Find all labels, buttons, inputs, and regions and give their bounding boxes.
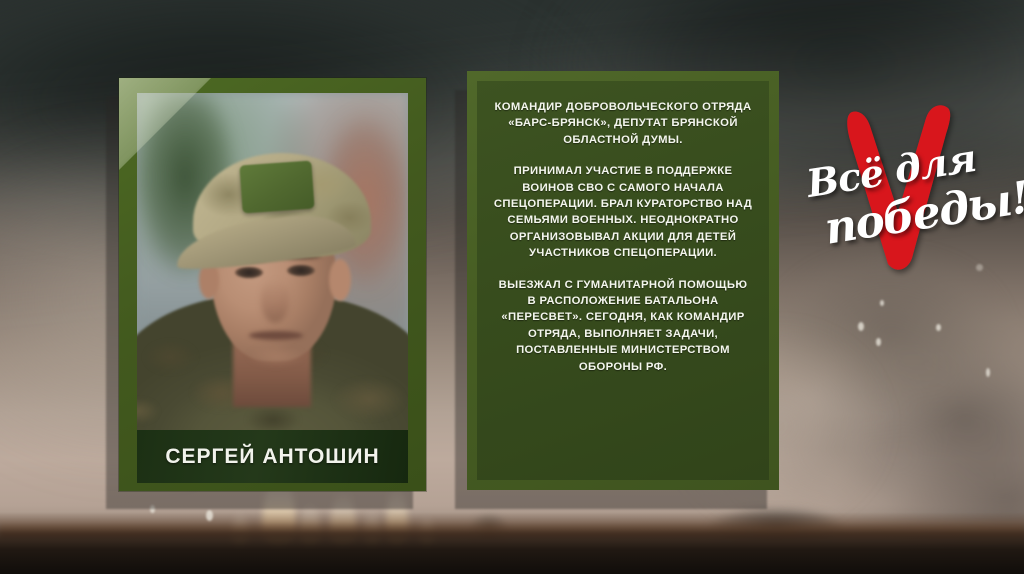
portrait-cap-patch [239,161,314,214]
portrait-photo [137,93,408,430]
ember-spark [206,510,213,521]
ground-silhouette [0,512,1024,574]
ember-spark [880,300,884,306]
portrait-ear-right [329,259,351,301]
portrait-chin [237,345,315,373]
nameplate: СЕРГЕЙ АНТОШИН [137,430,408,483]
biography-card: КОМАНДИР ДОБРОВОЛЬЧЕСКОГО ОТРЯДА «БАРС-Б… [467,71,779,490]
ember-spark [936,324,941,331]
bio-paragraph-1: КОМАНДИР ДОБРОВОЛЬЧЕСКОГО ОТРЯДА «БАРС-Б… [493,99,753,148]
bio-paragraph-2: ПРИНИМАЛ УЧАСТИЕ В ПОДДЕРЖКЕ ВОИНОВ СВО … [493,163,753,261]
portrait-mouth [249,331,303,340]
campaign-logo: Всё для победы! [800,96,990,286]
biography-card-inner: КОМАНДИР ДОБРОВОЛЬЧЕСКОГО ОТРЯДА «БАРС-Б… [477,81,769,480]
portrait-nose [261,279,289,323]
profile-photo-card: СЕРГЕЙ АНТОШИН [119,78,426,491]
person-name: СЕРГЕЙ АНТОШИН [165,445,379,469]
bio-paragraph-3: ВЫЕЗЖАЛ С ГУМАНИТАРНОЙ ПОМОЩЬЮ В РАСПОЛО… [493,277,753,375]
portrait-eye-right [287,265,315,276]
broadcast-slide: СЕРГЕЙ АНТОШИН КОМАНДИР ДОБРОВОЛЬЧЕСКОГО… [0,0,1024,574]
ember-spark [986,368,990,377]
portrait-eye-left [235,267,263,278]
ember-spark [858,322,864,331]
ember-spark [876,338,881,346]
